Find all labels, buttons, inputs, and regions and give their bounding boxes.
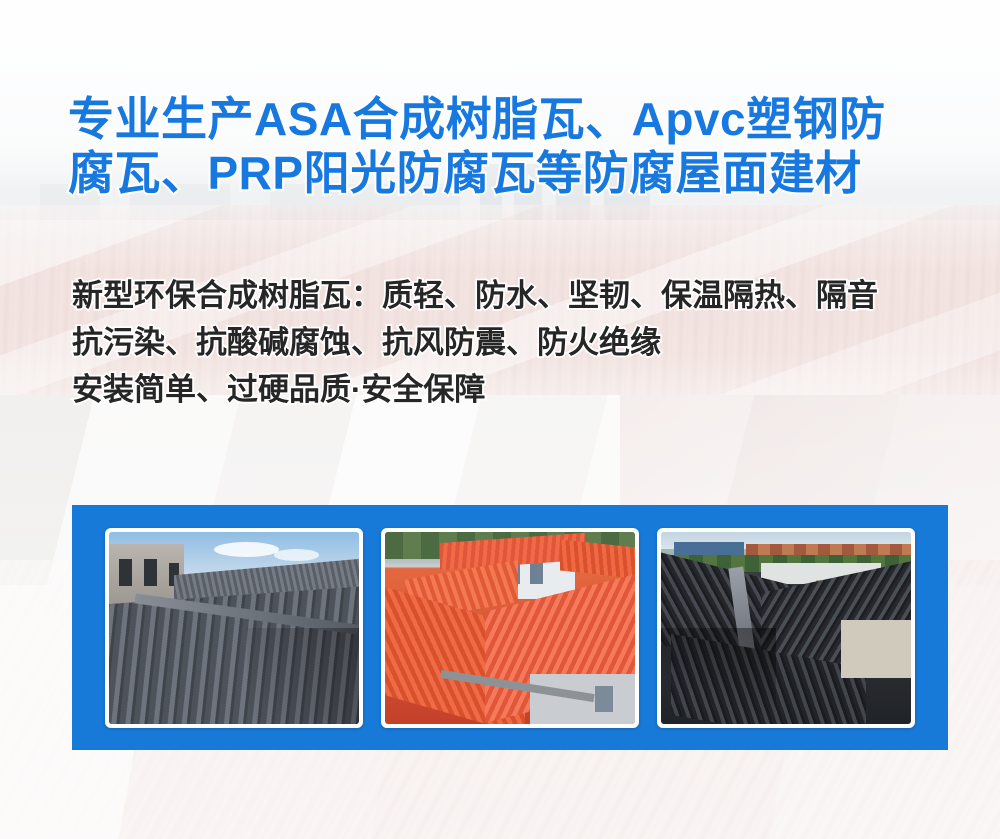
photo1-window [119,559,132,586]
photo-black-resin-roofs [661,532,911,724]
headline-line-1: 专业生产ASA合成树脂瓦、Apvc塑钢防 [68,92,948,146]
photo-panel [72,505,948,750]
photo3-wall [841,620,911,678]
photo1-window [144,559,157,586]
photo3-shadow [661,628,776,724]
photo2-window [530,561,543,584]
feature-list: 新型环保合成树脂瓦：质轻、防水、坚韧、保温隔热、隔音 抗污染、抗酸碱腐蚀、抗风防… [72,272,972,413]
headline: 专业生产ASA合成树脂瓦、Apvc塑钢防 腐瓦、PRP阳光防腐瓦等防腐屋面建材 [68,92,948,200]
photo-gray-charcoal-roof [109,532,359,724]
photo-row [105,528,915,728]
photo-frame-black-roof[interactable] [657,528,915,728]
photo1-cloud [214,542,279,557]
headline-line-2: 腐瓦、PRP阳光防腐瓦等防腐屋面建材 [68,146,948,200]
feature-line-3: 安装简单、过硬品质·安全保障 [72,366,972,413]
photo1-shadow [247,628,360,724]
photo-bright-red-roof [385,532,635,724]
photo-frame-red-roof[interactable] [381,528,639,728]
feature-line-2: 抗污染、抗酸碱腐蚀、抗风防震、防火绝缘 [72,319,972,366]
promo-banner: 专业生产ASA合成树脂瓦、Apvc塑钢防 腐瓦、PRP阳光防腐瓦等防腐屋面建材 … [0,0,1000,839]
feature-line-1: 新型环保合成树脂瓦：质轻、防水、坚韧、保温隔热、隔音 [72,272,972,319]
photo1-cloud [274,549,319,561]
photo-frame-gray-roof[interactable] [105,528,363,728]
photo2-window [595,686,613,713]
